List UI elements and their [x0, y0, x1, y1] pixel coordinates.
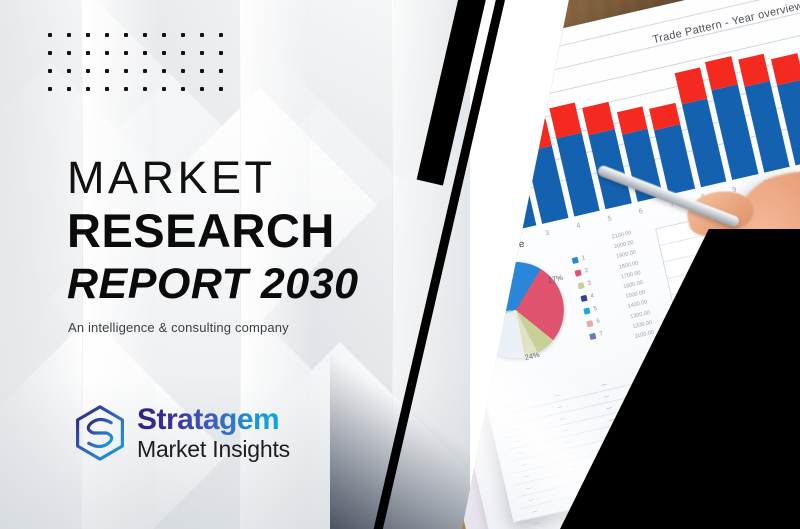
- legend-swatch: [586, 320, 593, 327]
- y-tick: 2000.00: [614, 240, 635, 250]
- grid-dot: [48, 87, 52, 91]
- report-cover: MARKET RESEARCH REPORT 2030 An intellige…: [0, 0, 800, 529]
- y-tick: 1400.00: [627, 300, 648, 310]
- legend-label: 4: [590, 293, 595, 300]
- grid-dot: [200, 69, 204, 73]
- grid-dot: [200, 87, 204, 91]
- grid-dot: [86, 33, 90, 37]
- legend-item: 2: [575, 268, 589, 277]
- grid-dot: [86, 69, 90, 73]
- bar-axis-label: 2: [514, 237, 519, 245]
- title-line-market: MARKET: [67, 152, 427, 204]
- grid-dot: [162, 87, 166, 91]
- y-tick: 2100.00: [611, 230, 632, 240]
- grid-dot: [48, 69, 52, 73]
- grid-dot: [200, 51, 204, 55]
- grid-dot: [143, 33, 147, 37]
- table-cell: —: [600, 382, 607, 389]
- grid-dot: [143, 69, 147, 73]
- logo-company-name: Stratagem: [137, 405, 290, 435]
- grid-dot: [200, 33, 204, 37]
- grid-dot: [105, 87, 109, 91]
- bar-segment-blue: [490, 138, 536, 231]
- legend-label: 7: [599, 331, 604, 338]
- legend-swatch: [580, 295, 587, 302]
- legend-swatch: [577, 282, 584, 289]
- grid-dot: [124, 87, 128, 91]
- legend-swatch: [575, 269, 582, 276]
- legend-label: 1: [581, 255, 586, 262]
- y-tick: 1900.00: [616, 250, 637, 260]
- legend-item: 5: [583, 306, 597, 315]
- title-line-report: REPORT 2030: [67, 258, 427, 310]
- grid-dot: [219, 33, 223, 37]
- y-tick: 1300.00: [630, 310, 651, 320]
- y-tick: 1100.00: [634, 329, 655, 339]
- legend-label: 5: [593, 306, 598, 313]
- legend-item: 6: [586, 319, 600, 328]
- logo-text: Stratagem Market Insights: [137, 405, 290, 461]
- y-tick: 1200.00: [632, 319, 653, 329]
- grid-dot: [124, 69, 128, 73]
- pie-chart-legend: 1234567: [572, 255, 604, 340]
- grid-dot: [162, 51, 166, 55]
- grid-dot: [105, 51, 109, 55]
- legend-item: 7: [589, 331, 603, 340]
- y-tick: 1500.00: [625, 290, 646, 300]
- bar-segment-red: [483, 105, 517, 144]
- hexagon-s-icon: [72, 404, 128, 462]
- grid-dot: [219, 51, 223, 55]
- grid-dot: [105, 33, 109, 37]
- legend-item: 4: [580, 293, 594, 302]
- grid-dot: [162, 33, 166, 37]
- grid-dot: [181, 69, 185, 73]
- legend-label: 2: [584, 268, 589, 275]
- table-cell: —: [603, 393, 610, 400]
- grid-dot: [48, 33, 52, 37]
- y-tick: 1800.00: [618, 260, 639, 270]
- grid-dot: [219, 87, 223, 91]
- grid-dot: [181, 87, 185, 91]
- legend-swatch: [583, 307, 590, 314]
- legend-item: 1: [572, 255, 586, 264]
- legend-swatch: [572, 257, 579, 264]
- bar-axis-label: 1: [482, 244, 487, 252]
- logo-company-subtitle: Market Insights: [137, 438, 290, 461]
- grid-dot: [86, 87, 90, 91]
- pie-label: 27%: [547, 273, 564, 285]
- legend-swatch: [589, 333, 596, 340]
- grid-dot: [67, 87, 71, 91]
- grid-dot: [67, 69, 71, 73]
- grid-dot: [48, 51, 52, 55]
- bar-column: [483, 105, 537, 231]
- legend-item: 3: [577, 281, 591, 290]
- grid-dot: [181, 33, 185, 37]
- legend-label: 6: [596, 319, 601, 326]
- grid-dot: [105, 69, 109, 73]
- tagline: An intelligence & consulting company: [68, 320, 289, 335]
- grid-dot: [124, 33, 128, 37]
- grid-dot: [219, 69, 223, 73]
- grid-dot: [67, 33, 71, 37]
- grid-dot: [86, 51, 90, 55]
- grid-dot: [67, 51, 71, 55]
- company-logo: Stratagem Market Insights: [72, 404, 290, 462]
- grid-dot: [124, 51, 128, 55]
- page-title: MARKET RESEARCH REPORT 2030: [67, 152, 427, 310]
- title-line-research: RESEARCH: [67, 204, 427, 258]
- grid-dot: [143, 87, 147, 91]
- y-tick: 1600.00: [623, 280, 644, 290]
- grid-dot: [143, 51, 147, 55]
- y-tick: 1700.00: [621, 270, 642, 280]
- table-cell: —: [606, 405, 613, 412]
- grid-dot: [181, 51, 185, 55]
- dot-grid-decoration: [48, 33, 238, 105]
- grid-dot: [162, 69, 166, 73]
- legend-label: 3: [587, 281, 592, 288]
- bar-axis-label: 6: [638, 208, 643, 216]
